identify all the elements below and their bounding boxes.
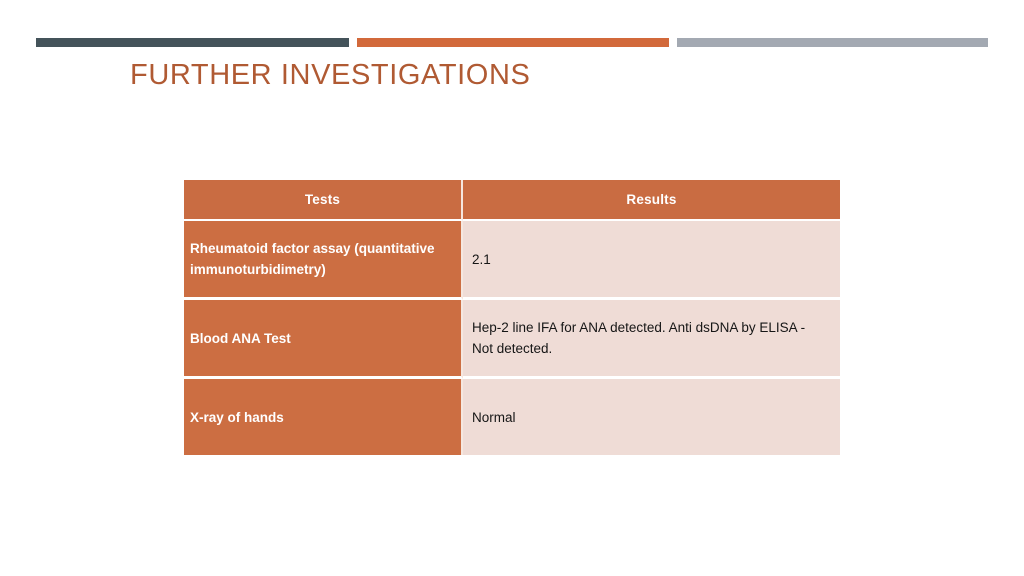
page-title: FURTHER INVESTIGATIONS	[130, 57, 530, 93]
decorative-bar-group	[0, 38, 1024, 48]
table-row: Blood ANA Test Hep-2 line IFA for ANA de…	[184, 300, 840, 379]
decorative-bar-grey	[677, 38, 988, 47]
column-header-tests: Tests	[184, 180, 463, 221]
cell-test-result: Normal	[463, 379, 840, 455]
table-header-row: Tests Results	[184, 180, 840, 221]
table-row: Rheumatoid factor assay (quantitative im…	[184, 221, 840, 300]
investigations-table-wrapper: Tests Results Rheumatoid factor assay (q…	[184, 180, 840, 455]
cell-test-name: X-ray of hands	[184, 379, 463, 455]
slide-canvas: FURTHER INVESTIGATIONS Tests Results Rhe…	[0, 0, 1024, 576]
cell-test-name: Rheumatoid factor assay (quantitative im…	[184, 221, 463, 300]
investigations-table: Tests Results Rheumatoid factor assay (q…	[184, 180, 840, 455]
cell-test-name: Blood ANA Test	[184, 300, 463, 379]
column-header-results: Results	[463, 180, 840, 221]
decorative-bar-orange	[357, 38, 669, 47]
table-row: X-ray of hands Normal	[184, 379, 840, 455]
cell-test-result: Hep-2 line IFA for ANA detected. Anti ds…	[463, 300, 840, 379]
decorative-bar-dark	[36, 38, 349, 47]
cell-test-result: 2.1	[463, 221, 840, 300]
table-header: Tests Results	[184, 180, 840, 221]
table-body: Rheumatoid factor assay (quantitative im…	[184, 221, 840, 455]
